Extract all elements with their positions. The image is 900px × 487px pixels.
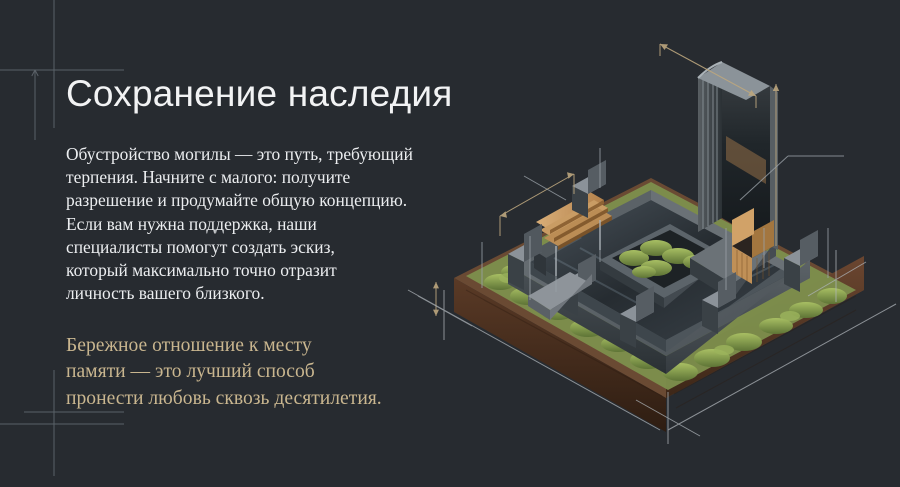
body-line: специалисты помогут создать эскиз,	[66, 236, 496, 259]
accent-line: Бережное отношение к месту	[66, 333, 496, 360]
slide-root: Сохранение наследия Обустройство могилы …	[0, 0, 900, 487]
accent-line: памяти — это лучший способ	[66, 359, 496, 386]
text-content-block: Сохранение наследия Обустройство могилы …	[66, 74, 496, 412]
body-line: Если вам нужна поддержка, наши	[66, 213, 496, 236]
body-line: разрешение и продумайте общую концепцию.	[66, 189, 496, 212]
body-line: терпения. Начните с малого: получите	[66, 166, 496, 189]
body-paragraph: Обустройство могилы — это путь, требующи…	[66, 143, 496, 306]
body-line: личность вашего близкого.	[66, 282, 496, 305]
guide-arrow-tl	[32, 70, 38, 76]
body-line: который максимально точно отразит	[66, 259, 496, 282]
accent-paragraph: Бережное отношение к месту памяти — это …	[66, 333, 496, 413]
body-line: Обустройство могилы — это путь, требующи…	[66, 143, 496, 166]
page-title: Сохранение наследия	[66, 74, 496, 115]
accent-line: пронести любовь сквозь десятилетия.	[66, 386, 496, 413]
